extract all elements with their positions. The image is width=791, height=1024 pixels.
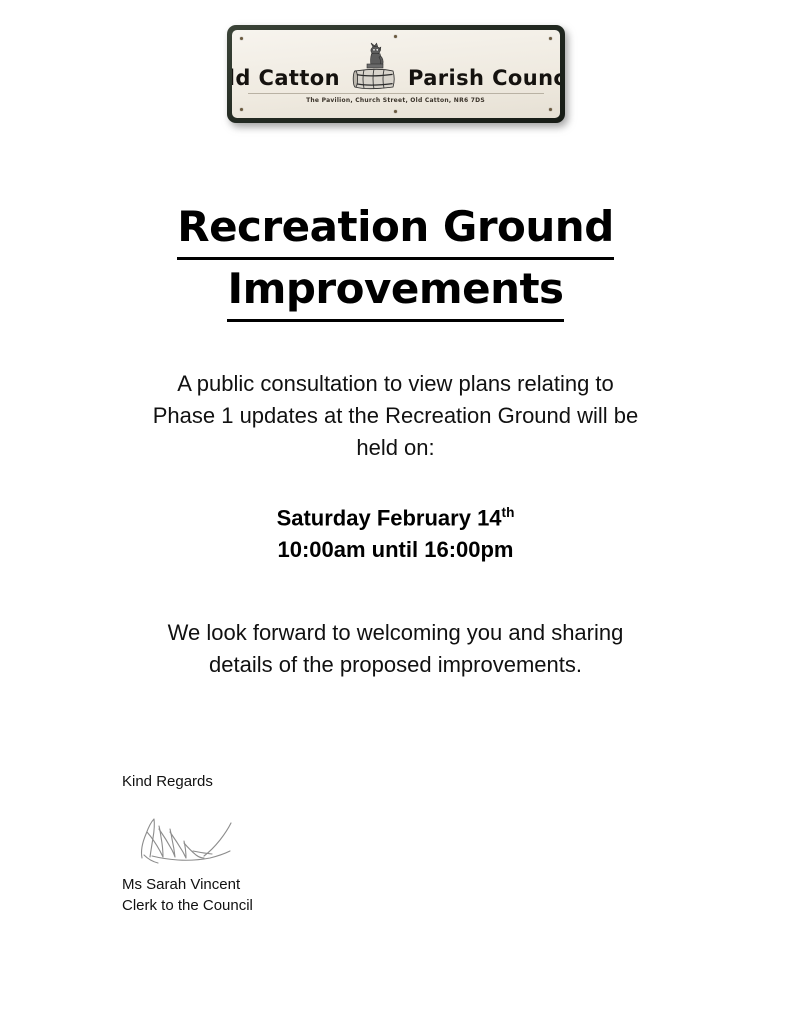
poster-page: Old Catton xyxy=(0,0,791,1024)
title-line-2: Improvements xyxy=(0,260,791,322)
title-line-2-text: Improvements xyxy=(227,260,563,322)
screw-icon xyxy=(549,108,552,111)
event-details: Saturday February 14th 10:00am until 16:… xyxy=(0,497,791,566)
intro-line-1: A public consultation to view plans rela… xyxy=(0,368,791,400)
parish-council-sign: Old Catton xyxy=(227,25,565,123)
screw-icon xyxy=(394,110,397,113)
sign-divider xyxy=(248,93,544,94)
screw-icon xyxy=(549,37,552,40)
page-title: Recreation Ground Improvements xyxy=(0,198,791,322)
event-date-text: Saturday February 14 xyxy=(277,505,502,530)
title-line-1: Recreation Ground xyxy=(0,198,791,260)
intro-line-3: held on: xyxy=(0,432,791,464)
closing-line-2: details of the proposed improvements. xyxy=(0,649,791,681)
closing-paragraph: We look forward to welcoming you and sha… xyxy=(0,617,791,681)
event-date-ordinal: th xyxy=(502,505,515,520)
signoff-block: Kind Regards Ms Sarah Vincent Clerk to t… xyxy=(122,771,253,916)
closing-line-1: We look forward to welcoming you and sha… xyxy=(0,617,791,649)
letterhead: Old Catton xyxy=(0,25,791,123)
sign-frame: Old Catton xyxy=(227,25,565,123)
sign-face: Old Catton xyxy=(232,30,560,118)
intro-line-2: Phase 1 updates at the Recreation Ground… xyxy=(0,400,791,432)
sign-main-row: Old Catton xyxy=(232,64,560,92)
screw-icon xyxy=(240,108,243,111)
cat-on-barrel-emblem xyxy=(345,37,403,93)
sign-left-text: Old Catton xyxy=(232,68,340,89)
intro-paragraph: A public consultation to view plans rela… xyxy=(0,368,791,464)
signoff-greeting: Kind Regards xyxy=(122,771,253,792)
signoff-name: Ms Sarah Vincent xyxy=(122,874,253,895)
event-date: Saturday February 14th xyxy=(0,497,791,534)
signoff-role: Clerk to the Council xyxy=(122,895,253,916)
sign-address: The Pavilion, Church Street, Old Catton,… xyxy=(232,97,560,104)
handwritten-signature xyxy=(130,810,252,866)
title-line-1-text: Recreation Ground xyxy=(177,198,614,260)
event-time: 10:00am until 16:00pm xyxy=(0,534,791,566)
sign-right-text: Parish Council xyxy=(408,68,560,89)
screw-icon xyxy=(240,37,243,40)
